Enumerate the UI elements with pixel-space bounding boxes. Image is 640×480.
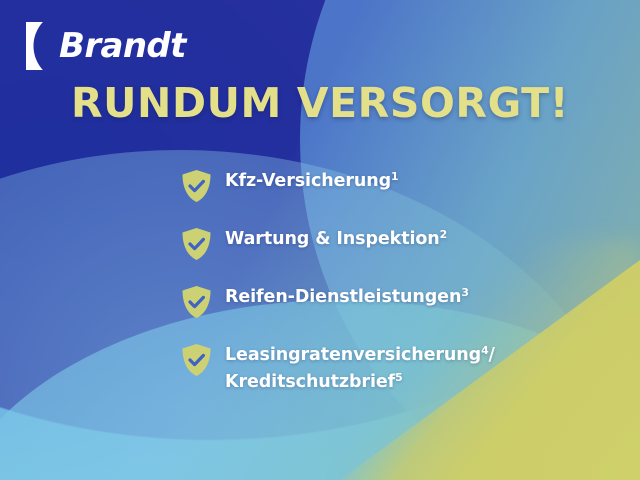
list-item: Wartung & Inspektion2: [181, 226, 601, 265]
benefit-list: Kfz-Versicherung1 Wartung & Inspektion2 …: [181, 168, 601, 414]
brandt-bracket-mark-icon: [26, 22, 52, 70]
list-item: Kfz-Versicherung1: [181, 168, 601, 207]
slide-canvas: Brandt RUNDUM VERSORGT! Kfz-Versicherung…: [0, 0, 640, 480]
benefit-label: Wartung & Inspektion2: [225, 226, 447, 253]
list-item: Leasingratenversicherung4/Kreditschutzbr…: [181, 342, 601, 395]
shield-check-icon: [181, 284, 225, 323]
benefit-label: Reifen-Dienstleistungen3: [225, 284, 469, 311]
list-item: Reifen-Dienstleistungen3: [181, 284, 601, 323]
shield-check-icon: [181, 168, 225, 207]
shield-check-icon: [181, 226, 225, 265]
benefit-label: Leasingratenversicherung4/Kreditschutzbr…: [225, 342, 495, 395]
benefit-label: Kfz-Versicherung1: [225, 168, 398, 195]
brand-logo: Brandt: [26, 22, 186, 70]
brand-wordmark: Brandt: [59, 29, 186, 63]
page-title: RUNDUM VERSORGT!: [0, 83, 640, 124]
shield-check-icon: [181, 342, 225, 381]
